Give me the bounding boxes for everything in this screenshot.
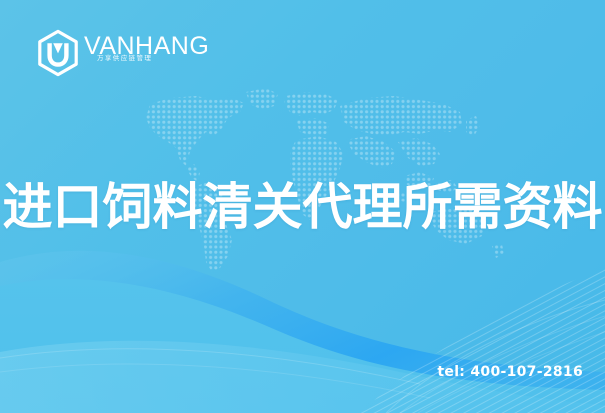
logo-subtitle: 万享供应链管理 [97, 52, 152, 62]
logo-text-group: VANHANG 万享供应链管理 [84, 31, 209, 75]
contact-telephone: tel: 400-107-2816 [437, 364, 583, 380]
page-title: 进口饲料清关代理所需资料 [0, 176, 605, 238]
promo-banner: VANHANG 万享供应链管理 进口饲料清关代理所需资料 tel: 400-10… [0, 0, 605, 413]
brand-logo[interactable]: VANHANG 万享供应链管理 [36, 28, 209, 78]
hexagon-u-logo-icon [36, 29, 80, 77]
